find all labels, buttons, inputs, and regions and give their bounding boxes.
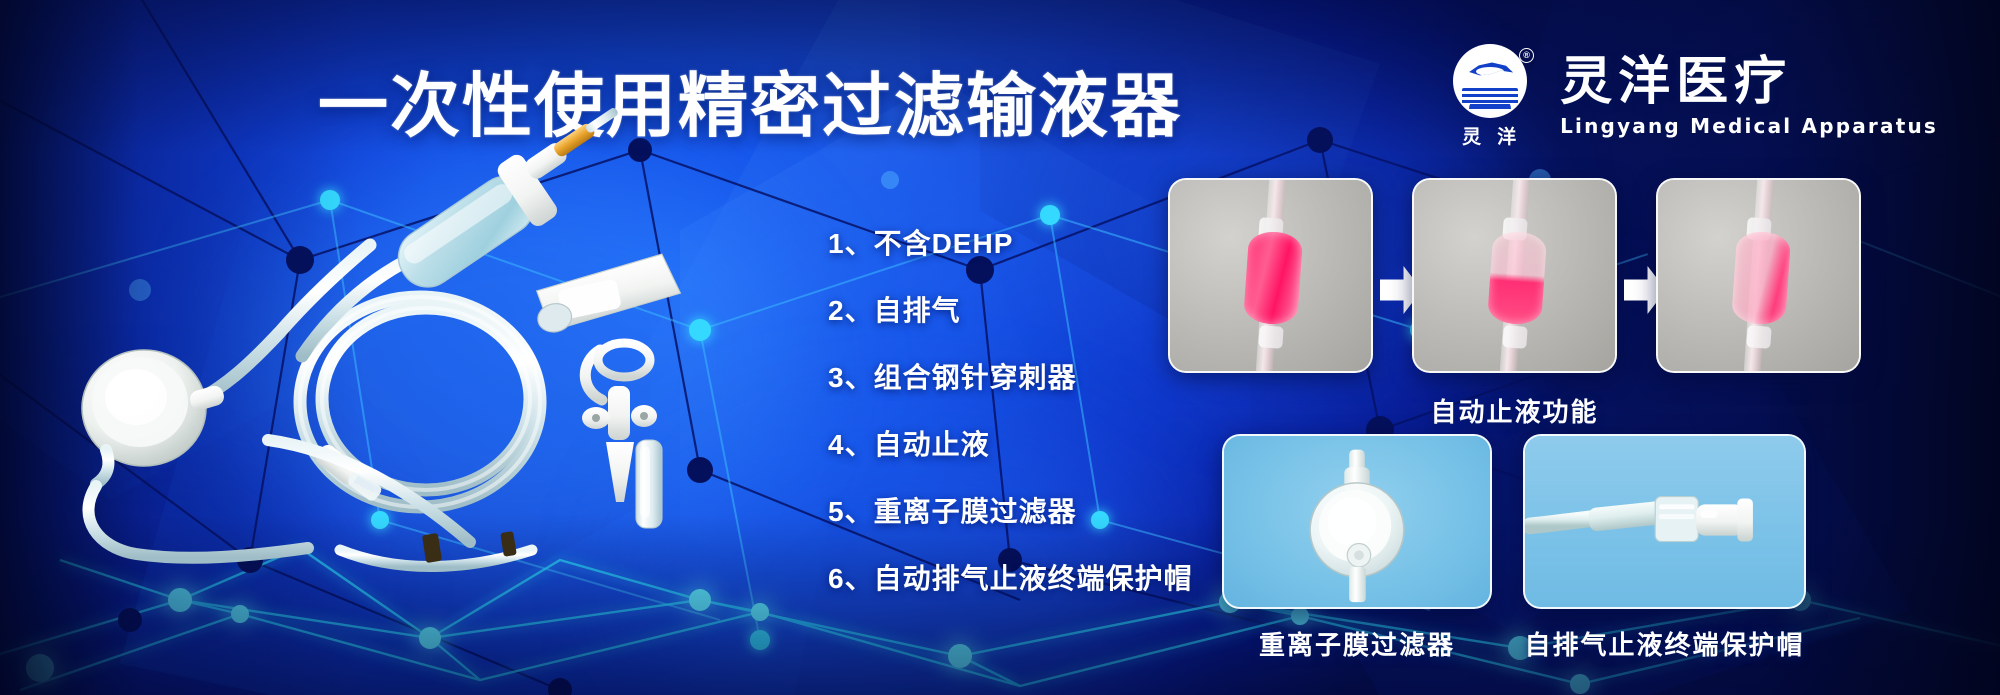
filter-chamber-draining: [1487, 230, 1547, 325]
auto-stop-frame-1: [1168, 178, 1373, 373]
main-product-photo: [40, 150, 800, 570]
logo-text-block: 灵洋医疗 Lingyang Medical Apparatus: [1560, 55, 1938, 138]
logo-mark-caption: 灵洋: [1440, 122, 1540, 149]
feature-item: 6、自动排气止液终端保护帽: [828, 557, 1193, 597]
feature-list: 1、不含DEHP 2、自排气 3、组合钢针穿刺器 4、自动止液 5、重离子膜过滤…: [828, 222, 1193, 597]
filter-chamber-full: [1243, 230, 1303, 325]
feature-item: 4、自动止液: [828, 423, 1193, 463]
auto-stop-caption: 自动止液功能: [1168, 392, 1861, 429]
wave-glyph-icon: [1462, 88, 1518, 104]
lingyang-circle-emblem-icon: [1453, 44, 1527, 118]
logo-mark: ® 灵洋: [1440, 44, 1540, 149]
round-filter-part: [82, 350, 226, 484]
roller-clamp-part: [530, 252, 683, 335]
page-title: 一次性使用精密过滤输液器: [318, 50, 1182, 151]
feature-item: 5、重离子膜过滤器: [828, 490, 1193, 530]
feature-item: 3、组合钢针穿刺器: [828, 356, 1193, 396]
brand-logo: ® 灵洋 灵洋医疗 Lingyang Medical Apparatus: [1440, 44, 1938, 149]
infusion-set-illustration: [40, 150, 800, 570]
tube-collar: [1746, 325, 1771, 349]
company-name-cn: 灵洋医疗: [1560, 55, 1938, 109]
filter-chamber-stopped: [1731, 230, 1791, 325]
auto-stop-frame-2: [1412, 178, 1617, 373]
registered-mark-icon: ®: [1519, 48, 1534, 63]
bottom-panel-caption: 重离子膜过滤器: [1222, 625, 1492, 662]
bottom-panel-caption: 自排气止液终端保护帽: [1523, 625, 1806, 662]
bird-glyph-icon: [1469, 61, 1513, 85]
protective-cap-part: [636, 440, 662, 528]
auto-stop-frame-3: [1656, 178, 1861, 373]
company-name-en: Lingyang Medical Apparatus: [1560, 114, 1938, 138]
feature-item: 2、自排气: [828, 289, 1193, 329]
product-banner: 一次性使用精密过滤输液器 ® 灵洋 灵洋医疗 Lingyang Medical …: [0, 0, 2000, 695]
heavy-ion-filter-photo: [1222, 434, 1492, 609]
tube-collar: [1502, 325, 1527, 349]
protective-cap-photo: [1523, 434, 1806, 609]
tube-collar: [1258, 325, 1283, 349]
feature-item: 1、不含DEHP: [828, 222, 1193, 262]
round-filter-illustration: [1224, 436, 1490, 607]
terminal-cap-illustration: [1525, 436, 1804, 607]
